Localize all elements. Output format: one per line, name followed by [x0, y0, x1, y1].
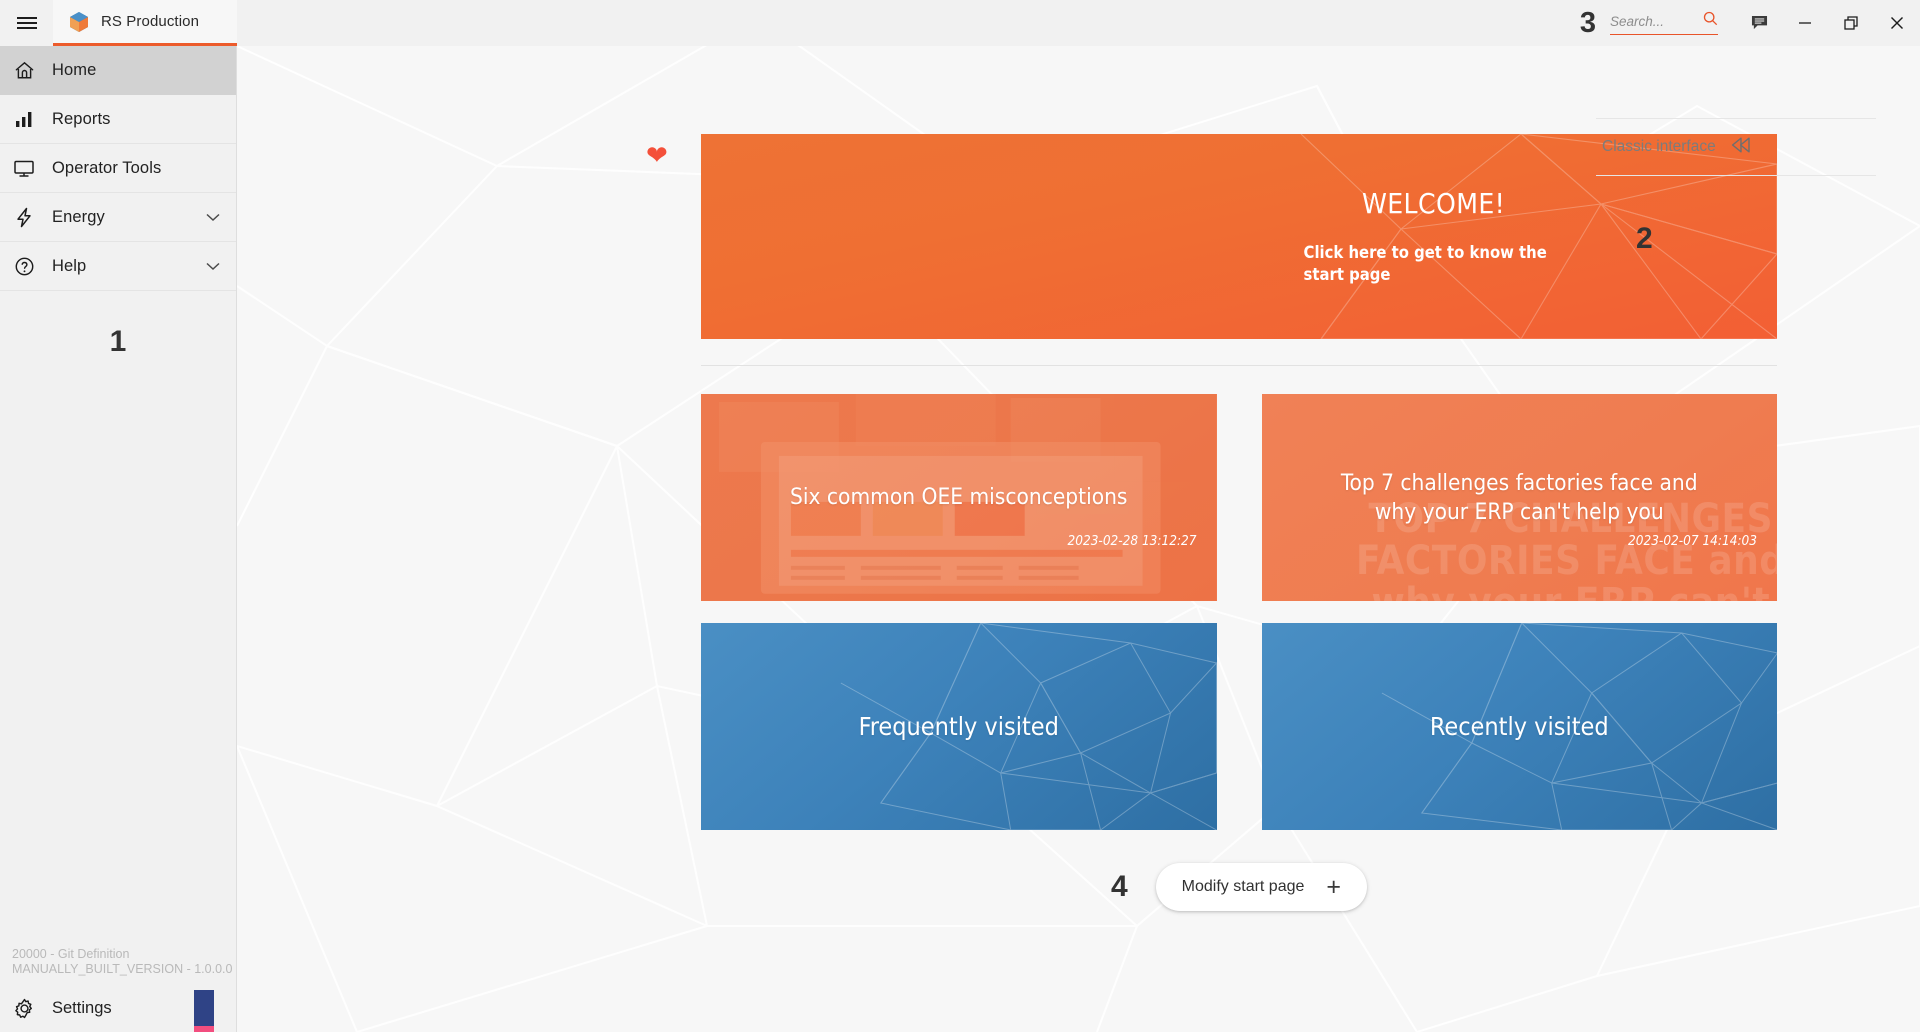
sidebar-item-home[interactable]: Home: [0, 46, 236, 95]
plus-icon: +: [1326, 875, 1341, 900]
section-divider: [701, 365, 1777, 366]
version-line-1: 20000 - Git Definition: [12, 947, 236, 963]
welcome-title: WELCOME!: [1304, 187, 1564, 220]
sidebar-footer: 20000 - Git Definition MANUALLY_BUILT_VE…: [0, 947, 236, 1032]
sidebar-item-label: Energy: [52, 208, 105, 227]
home-icon: [12, 60, 36, 81]
title-bar: RS Production 3: [0, 0, 1920, 46]
window-body: Home Reports: [0, 46, 1920, 1032]
accent-indicator-block: [194, 990, 214, 1032]
sidebar-item-label: Reports: [52, 110, 110, 129]
sidebar-item-label: Operator Tools: [52, 159, 161, 178]
restore-window-button[interactable]: [1828, 0, 1874, 46]
question-circle-icon: [12, 256, 36, 277]
sidebar-item-label: Help: [52, 257, 86, 276]
app-tab-rs-production[interactable]: RS Production: [53, 0, 237, 46]
close-window-button[interactable]: [1874, 0, 1920, 46]
minimize-window-button[interactable]: [1782, 0, 1828, 46]
card-timestamp: 2023-02-28 13:12:27: [1068, 533, 1197, 549]
card-title: Frequently visited: [799, 711, 1119, 742]
search-box[interactable]: [1610, 11, 1718, 35]
modify-start-page-label: Modify start page: [1182, 878, 1305, 896]
search-input[interactable]: [1610, 14, 1688, 29]
modify-start-page-row: 4 Modify start page +: [701, 863, 1777, 911]
start-page-column: ❤: [701, 134, 1777, 911]
version-info: 20000 - Git Definition MANUALLY_BUILT_VE…: [0, 947, 236, 984]
application-window: RS Production 3: [0, 0, 1920, 1032]
card-title: Top 7 challenges factories face and why …: [1262, 469, 1778, 525]
card-article-top7[interactable]: TOP 7 CHALLENGES FACTORIES FACE and why …: [1262, 394, 1778, 601]
classic-interface-button[interactable]: Classic interface: [1596, 119, 1876, 175]
modify-start-page-button[interactable]: Modify start page +: [1156, 863, 1367, 911]
callout-marker-3: 3: [1580, 7, 1596, 40]
callout-marker-4: 4: [1111, 870, 1128, 904]
rs-production-hex-logo-icon: [69, 11, 89, 33]
card-title: Recently visited: [1370, 711, 1669, 742]
titlebar-spacer: [237, 0, 1580, 46]
sidebar-item-operator-tools[interactable]: Operator Tools: [0, 144, 236, 193]
welcome-subtitle: Click here to get to know the start page: [1304, 242, 1564, 287]
left-sidebar: Home Reports: [0, 46, 237, 1032]
heart-icon[interactable]: ❤: [646, 142, 668, 168]
lightning-icon: [12, 207, 36, 228]
gear-icon: [12, 998, 36, 1019]
sidebar-item-reports[interactable]: Reports: [0, 95, 236, 144]
hamburger-menu-icon[interactable]: [0, 0, 53, 46]
card-timestamp: 2023-02-07 14:14:03: [1628, 533, 1757, 549]
card-article-oee[interactable]: Six common OEE misconceptions 2023-02-28…: [701, 394, 1217, 601]
classic-interface-panel: Classic interface: [1596, 118, 1876, 176]
sidebar-item-energy[interactable]: Energy: [0, 193, 236, 242]
callout-marker-1: 1: [0, 291, 236, 359]
app-tab-label: RS Production: [101, 13, 199, 30]
rewind-double-chevron-left-icon[interactable]: [1730, 136, 1752, 159]
chevron-down-icon[interactable]: [206, 213, 220, 222]
search-icon[interactable]: [1703, 11, 1718, 31]
welcome-text-block: WELCOME! Click here to get to know the s…: [1304, 187, 1564, 287]
card-title: Six common OEE misconceptions: [730, 483, 1187, 511]
bar-chart-icon: [12, 109, 36, 129]
sidebar-item-help[interactable]: Help: [0, 242, 236, 291]
sidebar-item-label: Home: [52, 61, 96, 80]
start-page-card-grid: Six common OEE misconceptions 2023-02-28…: [701, 394, 1777, 830]
version-line-2: MANUALLY_BUILT_VERSION - 1.0.0.0: [12, 962, 236, 978]
sidebar-nav: Home Reports: [0, 46, 236, 291]
start-page: ❤: [237, 46, 1920, 1032]
classic-interface-label: Classic interface: [1602, 138, 1716, 156]
main-content-area: ❤: [237, 46, 1920, 1032]
chevron-down-icon[interactable]: [206, 262, 220, 271]
card-frequently-visited[interactable]: Frequently visited: [701, 623, 1217, 830]
monitor-icon: [12, 158, 36, 178]
card-recently-visited[interactable]: Recently visited: [1262, 623, 1778, 830]
settings-label: Settings: [52, 999, 112, 1018]
sidebar-item-settings[interactable]: Settings: [0, 984, 236, 1032]
chat-bubble-icon[interactable]: [1736, 0, 1782, 46]
